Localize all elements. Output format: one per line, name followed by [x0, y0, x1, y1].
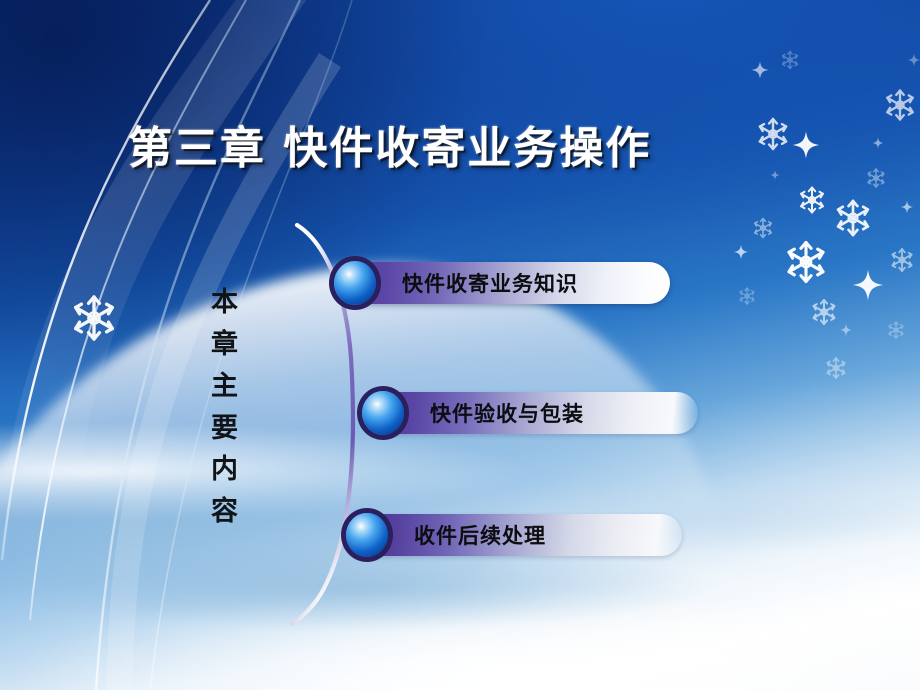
sphere-bullet-icon	[346, 513, 388, 557]
snowflake-icon	[755, 219, 772, 238]
snowflake-icon	[789, 243, 823, 282]
side-label-char: 章	[211, 324, 239, 366]
content-item-label: 快件验收与包装	[430, 398, 584, 428]
side-label-char: 容	[211, 491, 239, 533]
side-label-char: 本	[211, 282, 239, 324]
snowflake-icon	[814, 300, 835, 324]
snowflake-icon	[868, 169, 884, 187]
snowflake-icon	[76, 297, 113, 339]
snowflake-icon	[827, 358, 844, 378]
content-item-1[interactable]: 快件收寄业务知识	[340, 262, 670, 304]
side-label-char: 主	[211, 366, 239, 408]
snowflake-decoration-layer	[0, 0, 920, 690]
snowflake-icon	[892, 249, 911, 271]
sphere-bullet-icon	[334, 261, 376, 305]
sparkle-icon	[901, 201, 914, 214]
snowflake-icon	[783, 52, 798, 69]
sparkle-icon	[853, 270, 883, 300]
sparkle-icon	[770, 170, 780, 180]
snowflake-icon	[887, 91, 912, 120]
sphere-bullet-icon	[362, 391, 404, 435]
snowflake-icon	[740, 288, 754, 304]
content-item-pill[interactable]: 快件验收与包装	[368, 392, 698, 434]
content-item-pill[interactable]: 收件后续处理	[352, 514, 682, 556]
presentation-slide: 第三章 快件收寄业务操作 本 章 主 要 内 容 快件收寄业务知识 快件验收与包…	[0, 0, 920, 690]
snowflake-icon	[801, 188, 823, 213]
side-label-char: 内	[211, 449, 239, 491]
content-item-label: 收件后续处理	[414, 520, 546, 550]
content-item-pill[interactable]: 快件收寄业务知识	[340, 262, 670, 304]
content-item-2[interactable]: 快件验收与包装	[368, 392, 698, 434]
section-vertical-label: 本 章 主 要 内 容	[198, 282, 252, 533]
content-item-3[interactable]: 收件后续处理	[352, 514, 682, 556]
slide-title: 第三章 快件收寄业务操作	[128, 124, 651, 173]
sparkle-icon	[872, 137, 883, 148]
sparkle-icon	[751, 61, 769, 79]
sparkle-icon	[734, 245, 748, 259]
sparkle-icon	[792, 131, 819, 158]
snowflake-icon	[838, 201, 868, 235]
sparkle-icon	[840, 324, 852, 336]
snowflake-icon	[889, 322, 903, 338]
content-item-label: 快件收寄业务知识	[402, 268, 578, 298]
side-label-char: 要	[211, 408, 239, 450]
sparkle-icon	[908, 54, 920, 67]
snowflake-icon	[760, 119, 786, 149]
